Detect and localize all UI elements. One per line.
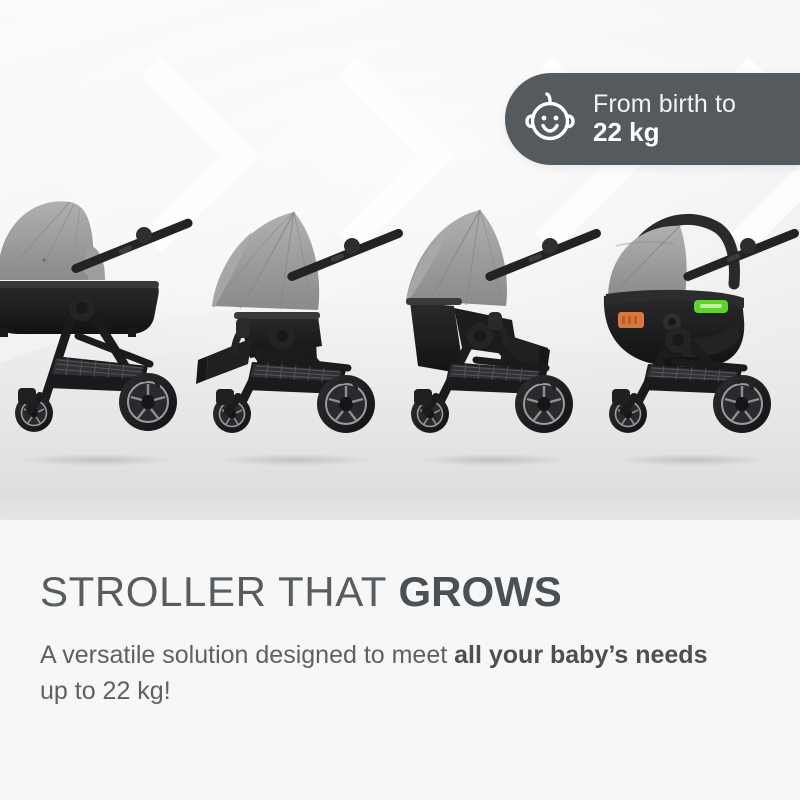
subtitle-part-1: A versatile solution designed to meet (40, 641, 454, 669)
stroller-image-car-seat (586, 188, 796, 458)
subtitle-bold: all your baby’s needs (454, 641, 707, 669)
copy-section: STROLLER THAT GROWS A versatile solution… (0, 520, 800, 800)
page-subtitle: A versatile solution designed to meet al… (40, 638, 730, 709)
badge-line-1: From birth to (593, 92, 736, 118)
promo-banner: From birth to 22 kg STROLLER THAT GROWS … (0, 0, 800, 800)
page-title: STROLLER THAT GROWS (40, 520, 760, 616)
baby-face-icon (521, 90, 579, 148)
subtitle-part-2: up to 22 kg! (40, 677, 171, 705)
weight-range-badge: From birth to 22 kg (505, 73, 800, 165)
stroller-image-rear-seat (388, 188, 598, 458)
badge-line-2: 22 kg (593, 119, 736, 146)
hero-photo-area: From birth to 22 kg (0, 0, 800, 520)
headline-bold: GROWS (399, 568, 562, 615)
stroller-image-forward-seat (190, 188, 400, 458)
stroller-image-carrycot (0, 188, 202, 458)
headline-light: STROLLER THAT (40, 568, 399, 615)
